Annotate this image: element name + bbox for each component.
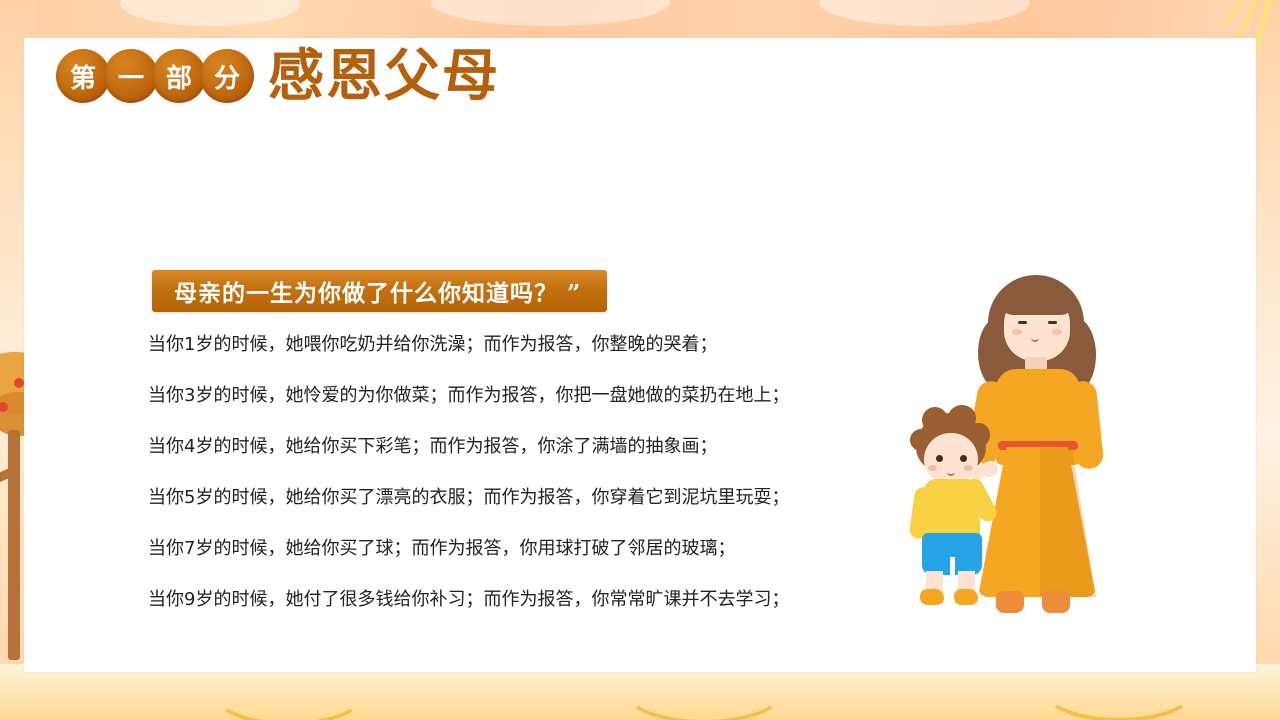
berry-1	[14, 378, 24, 388]
section-badge-1: 第	[56, 49, 110, 103]
tree-trunk	[8, 430, 20, 660]
mother-shoe-left	[996, 591, 1024, 613]
mother-cheek-right	[1052, 329, 1062, 335]
child-shoe-left	[920, 589, 944, 605]
slide-root: 第 一 部 分 感恩父母 母亲的一生为你做了什么你知道吗？ ” 当你1岁的时候，…	[0, 0, 1280, 720]
body-line: 当你3岁的时候，她怜爱的为你做菜；而作为报答，你把一盘她做的菜扔在地上；	[148, 387, 928, 405]
body-line: 当你9岁的时候，她付了很多钱给你补习；而作为报答，你常常旷课并不去学习；	[148, 591, 928, 609]
child-cheek-left	[928, 465, 937, 471]
child-eye-right	[960, 455, 967, 462]
child-shorts-split	[950, 557, 955, 575]
mother-and-child-illustration	[900, 265, 1140, 645]
section-badge-2: 一	[104, 49, 158, 103]
child-cheek-right	[964, 465, 973, 471]
section-title-group: 第 一 部 分 感恩父母	[56, 48, 500, 104]
mother-shoe-right	[1042, 591, 1070, 613]
child-shirt	[924, 479, 980, 539]
child-hair-curl-2	[922, 407, 948, 433]
mother-eye-right	[1048, 321, 1057, 324]
page-title: 感恩父母	[268, 48, 500, 104]
question-banner: 母亲的一生为你做了什么你知道吗？ ”	[152, 270, 607, 312]
child-shoe-right	[954, 589, 978, 605]
mother-cheek-left	[1012, 329, 1022, 335]
question-banner-text: 母亲的一生为你做了什么你知道吗？ ”	[174, 274, 581, 308]
mother-skirt-shading	[1040, 447, 1096, 597]
body-line: 当你4岁的时候，她给你买下彩笔；而作为报答，你涂了满墙的抽象画；	[148, 438, 928, 456]
mother-eye-left	[1018, 321, 1027, 324]
section-badge-4: 分	[200, 49, 254, 103]
body-line: 当你1岁的时候，她喂你吃奶并给你洗澡；而作为报答，你整晚的哭着；	[148, 336, 928, 354]
child-eye-left	[936, 455, 943, 462]
body-text-block: 当你1岁的时候，她喂你吃奶并给你洗澡；而作为报答，你整晚的哭着； 当你3岁的时候…	[148, 336, 928, 642]
mother-bangs	[1000, 283, 1074, 315]
body-line: 当你5岁的时候，她给你买了漂亮的衣服；而作为报答，你穿着它到泥坑里玩耍；	[148, 489, 928, 507]
body-line: 当你7岁的时候，她给你买了球；而作为报答，你用球打破了邻居的玻璃；	[148, 540, 928, 558]
child-hand-right	[982, 461, 998, 477]
section-badge-3: 部	[152, 49, 206, 103]
